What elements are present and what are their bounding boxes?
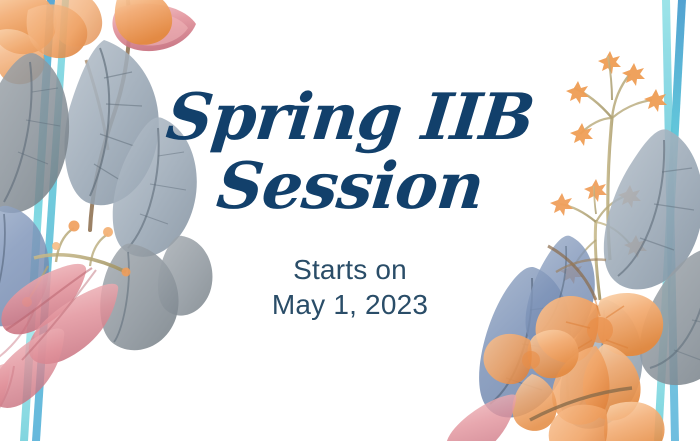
subtitle-line-2: May 1, 2023 — [272, 287, 428, 322]
subtitle-line-1: Starts on — [272, 252, 428, 287]
title-line-2: Session — [117, 157, 583, 218]
flyer-canvas: Spring IIB Session Starts on May 1, 2023 — [0, 0, 700, 441]
text-content: Spring IIB Session Starts on May 1, 2023 — [0, 0, 700, 441]
title-line-1: Spring IIB — [117, 88, 583, 149]
page-title: Spring IIB Session — [120, 88, 580, 218]
subtitle: Starts on May 1, 2023 — [272, 252, 428, 322]
